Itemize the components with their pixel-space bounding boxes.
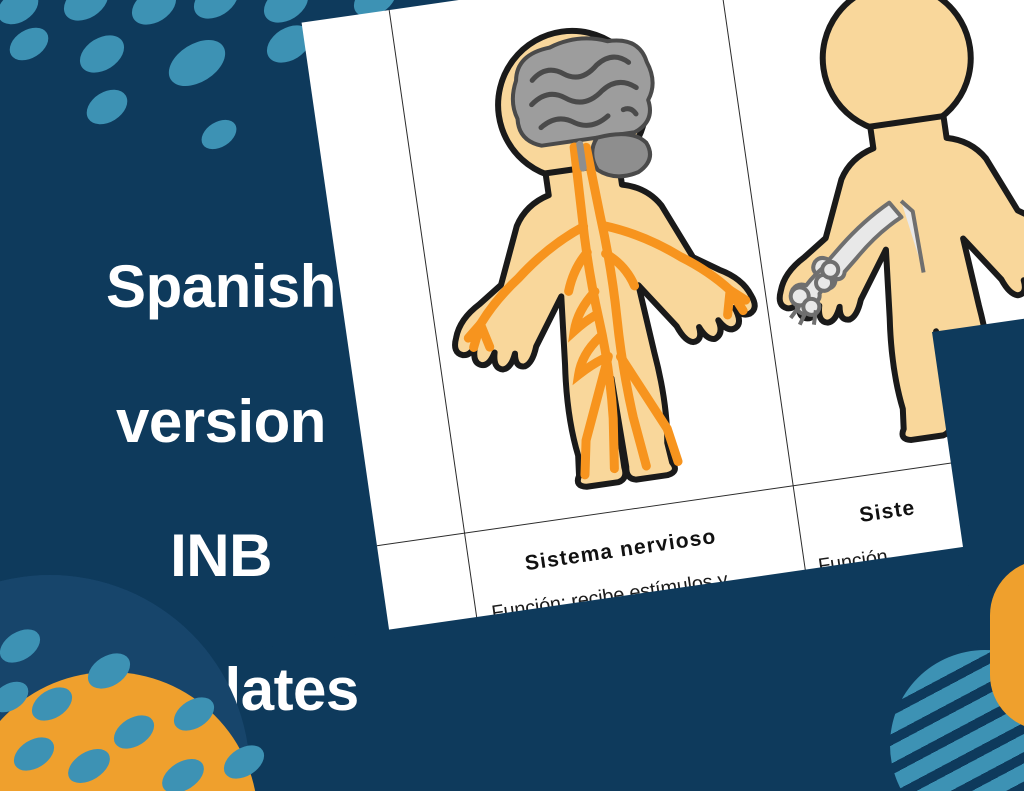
teal-ellipse [4,21,54,67]
poster-canvas: Spanish version INB templates included o… [0,0,1024,791]
headline-line-2: version [46,388,396,455]
headline-line-4: templates [46,656,396,723]
card-title-nervous-system: Sistema nervioso [523,525,718,576]
headline-line-1: Spanish [46,253,396,320]
card-title-skeletal-system: Siste [858,496,917,528]
teal-ellipse [161,30,234,95]
human-figure-nervous-system-icon [406,0,782,509]
teal-ellipse [80,83,133,132]
teal-ellipse [73,28,131,81]
teal-ellipse [187,0,245,26]
headline-line-3: INB [46,522,396,589]
teal-ellipse [125,0,183,32]
teal-ellipse [196,114,241,155]
headline: Spanish version INB templates included [46,186,396,791]
teal-ellipse [57,0,115,28]
